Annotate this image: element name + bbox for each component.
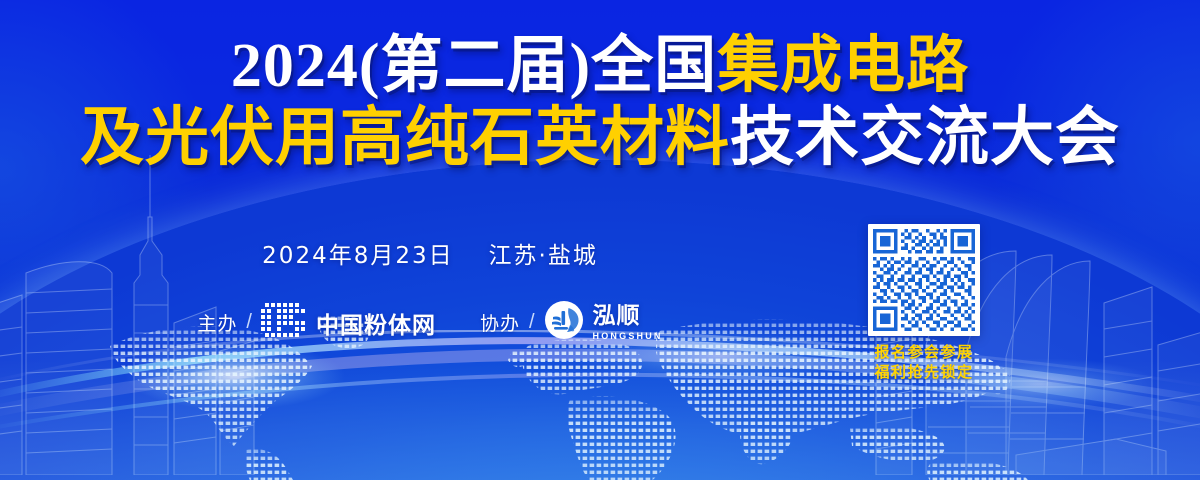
organizer-coorganizer-role: 协办 <box>480 309 520 336</box>
conference-banner: 2024(第二届)全国集成电路 及光伏用高纯石英材料技术交流大会 2024年8月… <box>0 0 1200 480</box>
organizer-host-name: 中国粉体网 <box>316 306 436 340</box>
banner-title: 2024(第二届)全国集成电路 及光伏用高纯石英材料技术交流大会 <box>0 34 1200 172</box>
title-line-1-white: 2024(第二届)全国 <box>231 32 717 100</box>
title-line-2: 及光伏用高纯石英材料技术交流大会 <box>0 104 1200 172</box>
title-line-2-white: 技术交流大会 <box>730 102 1120 173</box>
qr-caption-line-2: 福利抢先锁定 <box>862 363 986 383</box>
pixel-f-logo-icon <box>261 302 307 343</box>
qr-code-image[interactable] <box>868 224 980 336</box>
title-line-1-gold: 集成电路 <box>717 32 969 100</box>
organizer-coorganizer-name-latin: HONGSHUN <box>593 332 663 341</box>
organizer-coorganizer: 协办 / <box>480 300 663 345</box>
event-meta: 2024年8月23日 江苏·盐城 <box>0 236 860 270</box>
organizer-host-separator: / <box>246 311 252 334</box>
organizer-coorganizer-name: 泓顺 <box>593 305 641 328</box>
organizer-coorganizer-separator: / <box>529 311 535 334</box>
event-date: 2024年8月23日 <box>262 236 453 270</box>
title-line-1: 2024(第二届)全国集成电路 <box>0 34 1200 100</box>
banner-content: 2024(第二届)全国集成电路 及光伏用高纯石英材料技术交流大会 2024年8月… <box>0 0 1200 480</box>
qr-caption: 报名参会参展 福利抢先锁定 <box>862 343 986 383</box>
event-location: 江苏·盐城 <box>489 236 598 270</box>
organizer-row: 主办 / <box>0 300 860 345</box>
title-line-2-gold: 及光伏用高纯石英材料 <box>80 102 730 173</box>
organizer-host: 主办 / <box>197 302 436 343</box>
hongshun-circle-logo-icon <box>544 300 584 345</box>
organizer-coorganizer-name-stack: 泓顺 HONGSHUN <box>593 305 663 341</box>
qr-caption-line-1: 报名参会参展 <box>862 343 986 363</box>
qr-registration-block[interactable]: 报名参会参展 福利抢先锁定 <box>862 224 986 383</box>
organizer-host-role: 主办 <box>197 309 237 336</box>
